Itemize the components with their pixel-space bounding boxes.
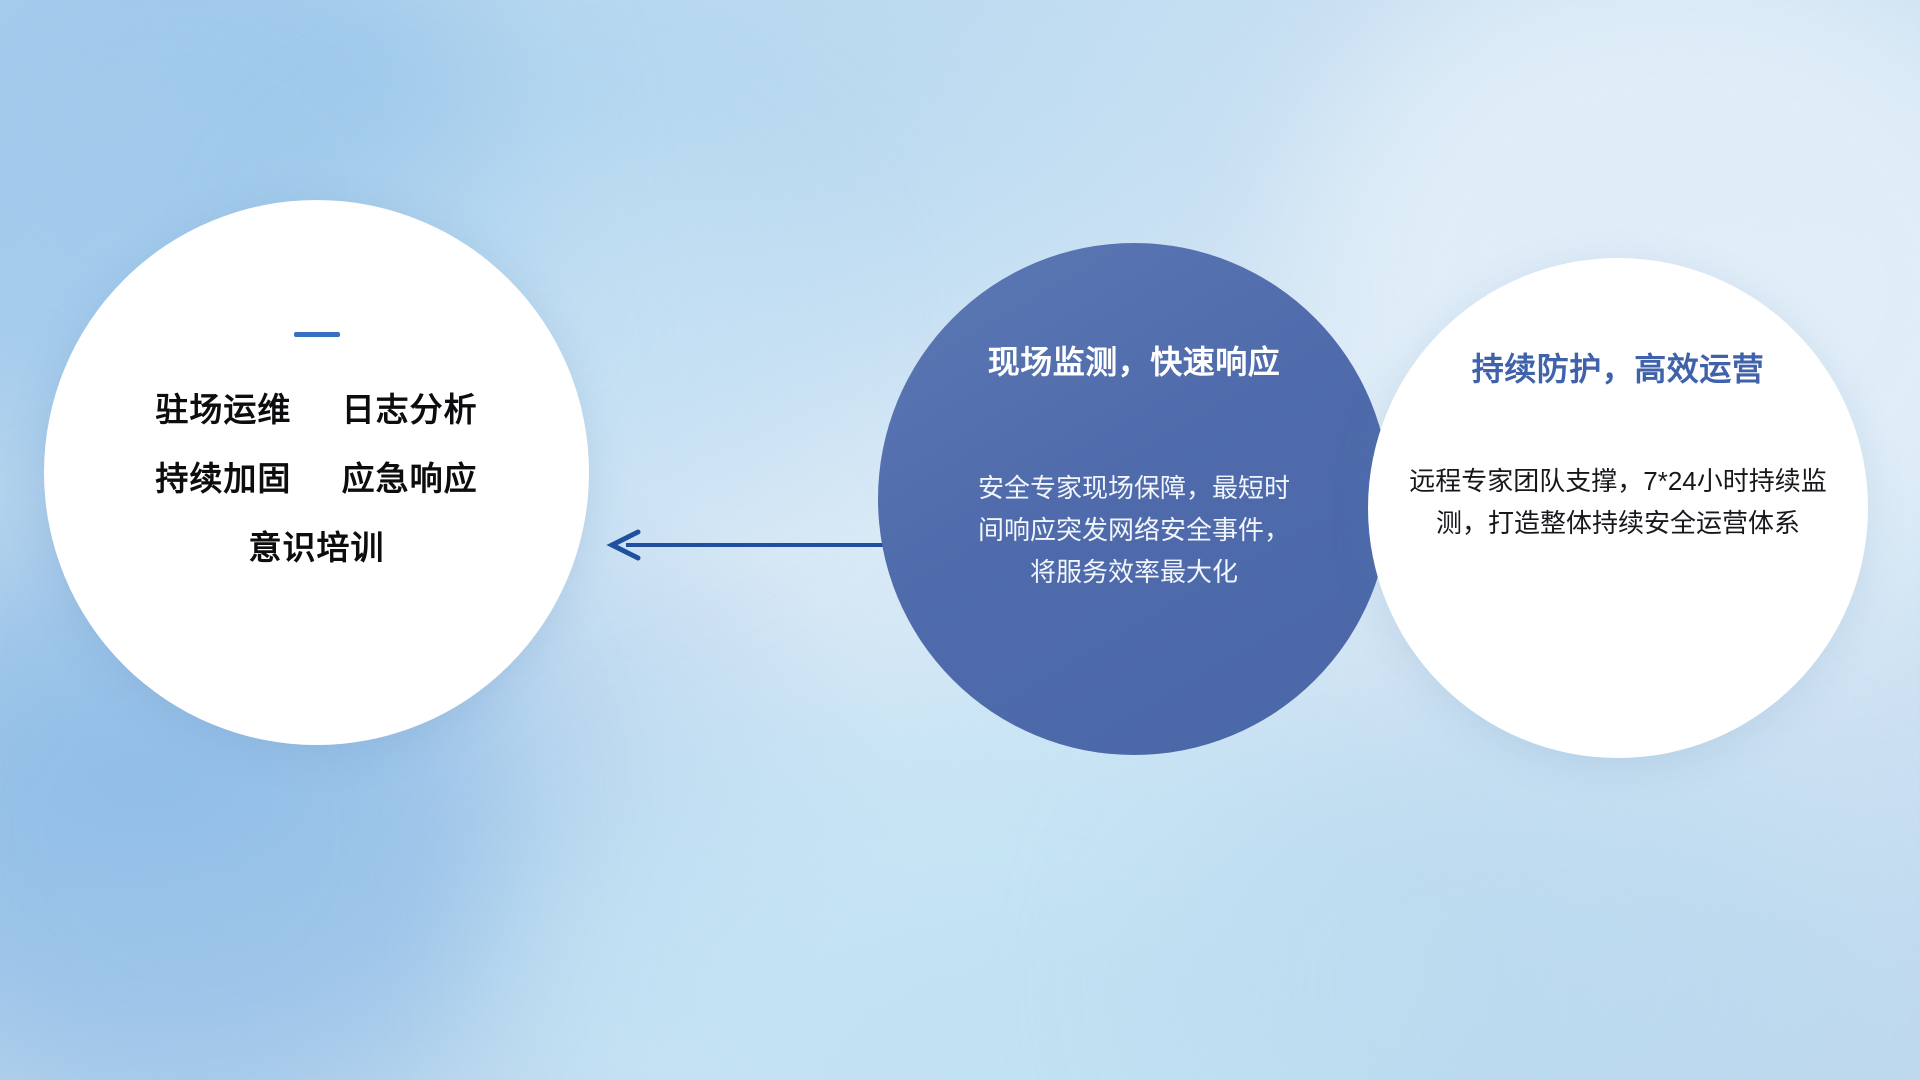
mid-circle-body: 安全专家现场保障，最短时间响应突发网络安全事件，将服务效率最大化 [969,467,1299,593]
flow-arrow [604,529,889,561]
accent-dash-icon [294,332,340,337]
mid-circle-title: 现场监测，快速响应 [988,337,1281,383]
capability-label: 应急响应 [342,460,478,497]
left-capability-list: 驻场运维 日志分析 持续加固 应急响应 意识培训 [155,393,477,564]
arrow-left-icon [604,529,889,561]
list-item: 驻场运维 日志分析 [155,393,477,426]
capability-label: 日志分析 [342,391,478,428]
diagram-stage: 驻场运维 日志分析 持续加固 应急响应 意识培训 现场监测，快速响应 安全专家现… [0,0,1920,1080]
right-circle-title: 持续防护，高效运营 [1472,344,1765,390]
capability-label: 持续加固 [155,460,291,497]
mid-service-circle: 现场监测，快速响应 安全专家现场保障，最短时间响应突发网络安全事件，将服务效率最… [878,243,1390,755]
capability-label: 驻场运维 [155,391,291,428]
list-item: 意识培训 [155,531,477,564]
list-item: 持续加固 应急响应 [155,462,477,495]
right-circle-body: 远程专家团队支撑，7*24小时持续监测，打造整体持续安全运营体系 [1408,460,1828,544]
left-capability-circle: 驻场运维 日志分析 持续加固 应急响应 意识培训 [44,200,589,745]
right-service-circle: 持续防护，高效运营 远程专家团队支撑，7*24小时持续监测，打造整体持续安全运营… [1368,258,1868,758]
capability-label: 意识培训 [249,529,385,566]
